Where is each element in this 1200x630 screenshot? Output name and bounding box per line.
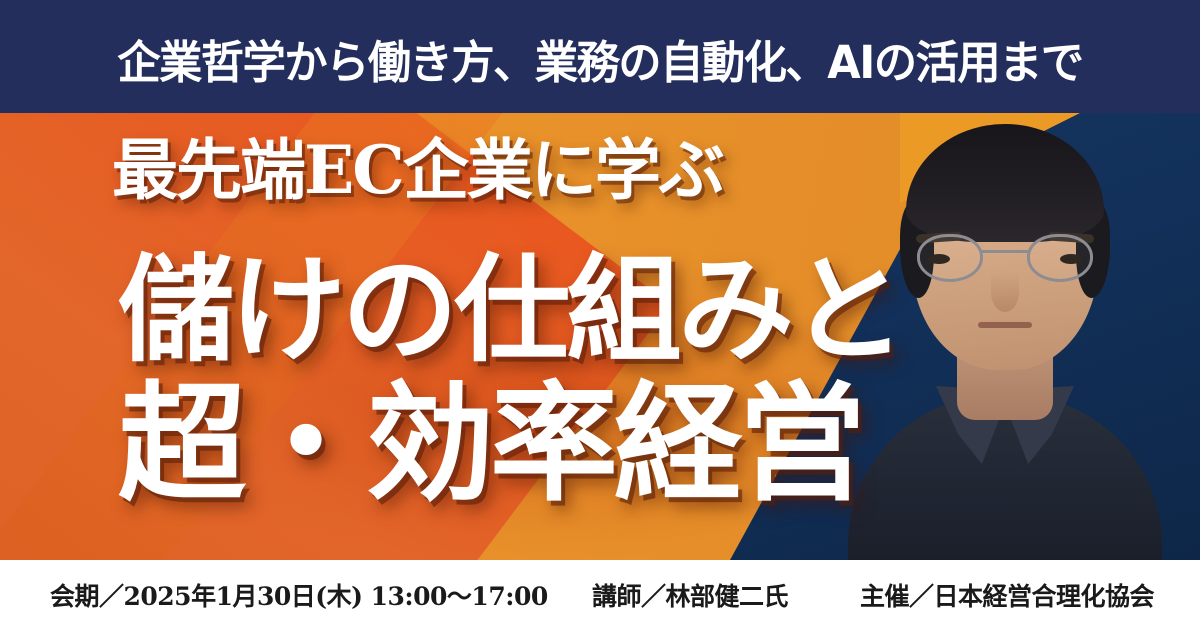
- footer-date: 会期／2025年1月30日(木) 13:00〜17:00: [50, 577, 548, 613]
- seminar-poster: 企業哲学から働き方、業務の自動化、AIの活用まで: [0, 0, 1200, 630]
- hero-title-line-1: 儲けの仕組みと: [118, 253, 902, 369]
- hero-kicker: 最先端EC企業に学ぶ: [112, 137, 723, 203]
- portrait-mouth: [978, 322, 1032, 328]
- glasses-lens-right: [1027, 234, 1093, 282]
- headline-block: 最先端EC企業に学ぶ 儲けの仕組みと 超・効率経営: [0, 113, 900, 560]
- footer-lecturer: 講師／林部健二氏: [592, 577, 788, 613]
- footer-info-row: 会期／2025年1月30日(木) 13:00〜17:00 講師／林部健二氏 主催…: [0, 577, 1200, 613]
- footer-host: 主催／日本経営合理化協会: [860, 577, 1154, 613]
- footer-info-bar: 会期／2025年1月30日(木) 13:00〜17:00 講師／林部健二氏 主催…: [0, 560, 1200, 630]
- portrait-nose: [991, 272, 1019, 312]
- banner-tagline: 企業哲学から働き方、業務の自動化、AIの活用まで: [24, 0, 1176, 113]
- glasses-bridge: [982, 250, 1028, 253]
- portrait-hair: [906, 124, 1104, 242]
- hero-title-line-2: 超・効率経営: [118, 381, 862, 509]
- glasses-lens-left: [917, 234, 983, 282]
- top-banner: 企業哲学から働き方、業務の自動化、AIの活用まで: [0, 0, 1200, 113]
- hero-stage: 最先端EC企業に学ぶ 儲けの仕組みと 超・効率経営: [0, 113, 1200, 560]
